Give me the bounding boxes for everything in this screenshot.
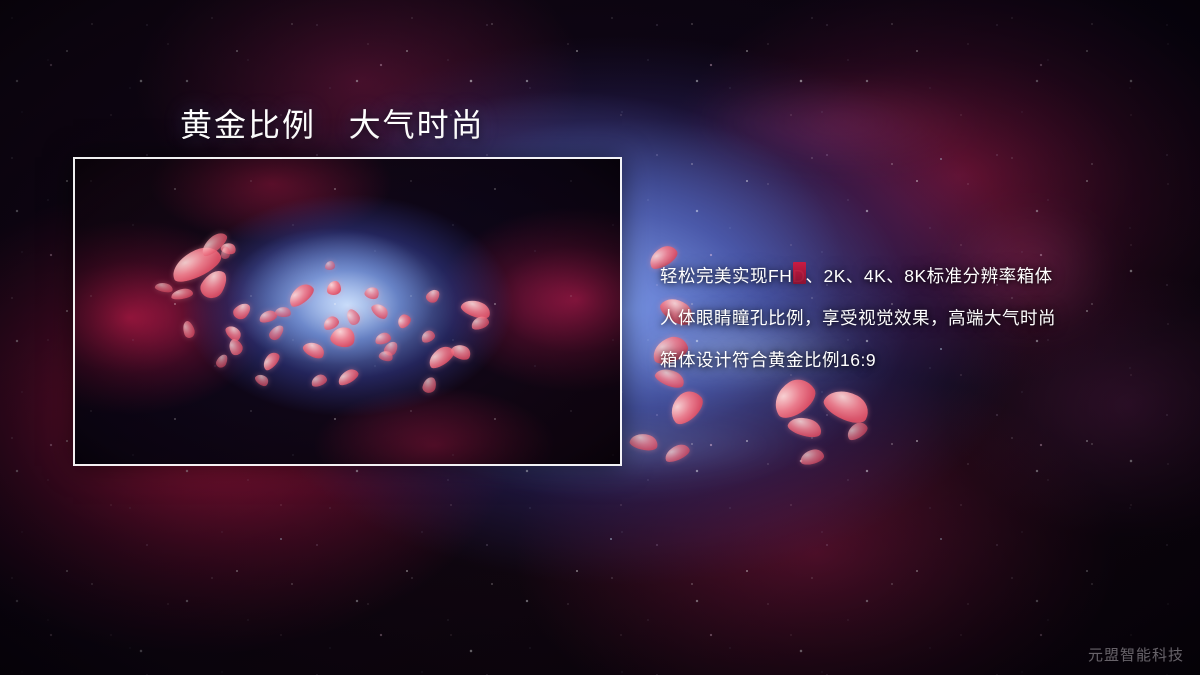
copy-line-2: 人体眼睛瞳孔比例，享受视觉效果，高端大气时尚 (660, 297, 1160, 339)
photo-vignette (75, 159, 620, 464)
fhd-highlight-mark (793, 262, 806, 284)
copy-line-3: 箱体设计符合黄金比例16:9 (660, 339, 1160, 381)
page-title: 黄金比例 大气时尚 (180, 100, 485, 146)
copy-line-1: 轻松完美实现FHD、2K、4K、8K标准分辨率箱体 (660, 255, 1160, 297)
slide-canvas: 黄金比例 大气时尚 轻松完美实现FHD、2K、4K、8K标准分辨率箱体 人体眼睛… (0, 0, 1200, 675)
body-copy: 轻松完美实现FHD、2K、4K、8K标准分辨率箱体 人体眼睛瞳孔比例，享受视觉效… (660, 255, 1160, 381)
image-frame (73, 157, 622, 466)
watermark: 元盟智能科技 (1088, 644, 1184, 665)
